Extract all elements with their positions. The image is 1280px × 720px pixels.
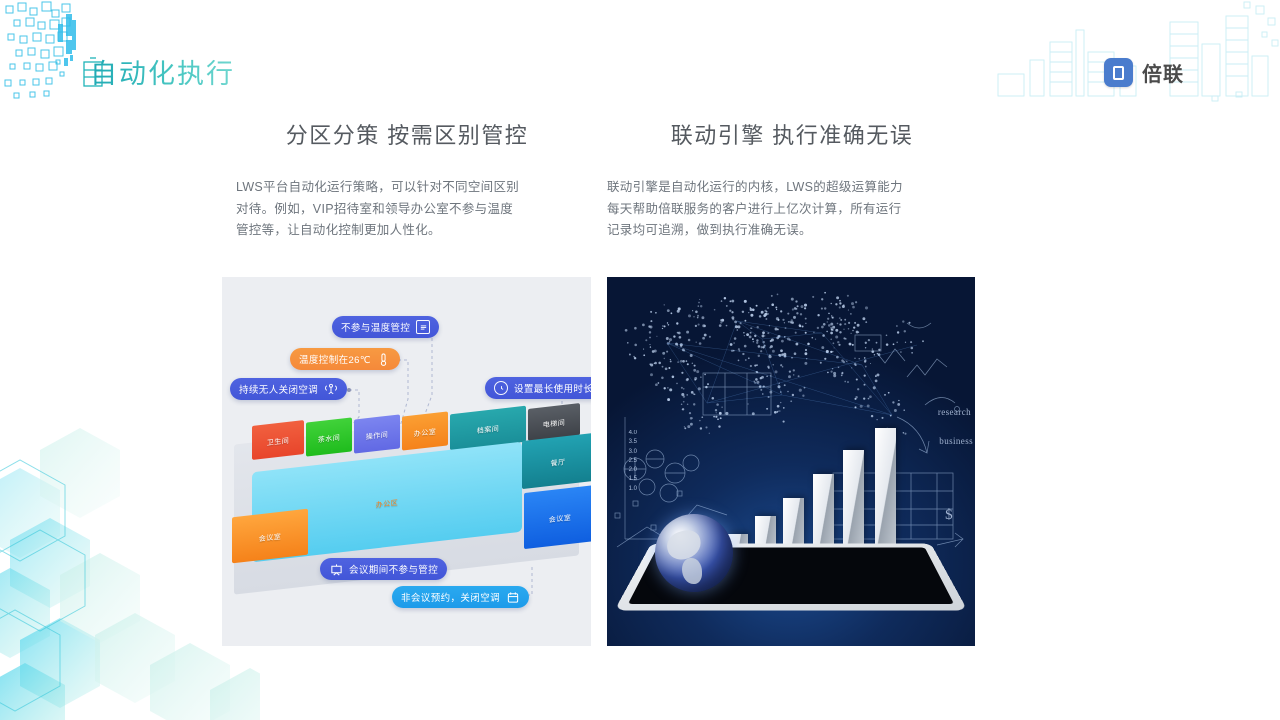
timer-icon — [494, 381, 508, 395]
room-block: 会议室 — [232, 509, 308, 564]
earth-globe — [655, 514, 733, 592]
brand-logo: 倍联 — [1104, 58, 1184, 87]
person-sensor-icon — [324, 382, 338, 396]
column-right: 联动引擎 执行准确无误 联动引擎是自动化运行的内核，LWS的超级运算能力每天帮助… — [607, 118, 977, 242]
calendar-icon — [506, 590, 520, 604]
section-heading-right: 联动引擎 执行准确无误 — [607, 118, 977, 150]
chart-axis-ticks: 4.0 3.5 3.0 2.5 2.0 1.5 1.0 — [623, 429, 637, 494]
callout-label: 持续无人关闭空调 — [239, 382, 318, 396]
callout-tag[interactable]: 不参与温度管控 — [332, 316, 439, 338]
room-block: 会议室 — [524, 485, 591, 549]
hexagon-pattern-decoration — [0, 390, 260, 720]
callout-tag[interactable]: 温度控制在26℃ — [290, 348, 400, 370]
callout-tag[interactable]: 非会议预约，关闭空调 — [392, 586, 529, 608]
page-title: 自动化执行 — [90, 52, 235, 91]
document-list-icon — [416, 320, 430, 334]
room-block: 操作间 — [354, 414, 400, 453]
tech-globe-image-panel: 4.0 3.5 3.0 2.5 2.0 1.5 1.0 research bus… — [607, 277, 975, 646]
section-body-right: 联动引擎是自动化运行的内核，LWS的超级运算能力每天帮助倍联服务的客户进行上亿次… — [607, 177, 907, 242]
column-left: 分区分策 按需区别管控 LWS平台自动化运行策略，可以针对不同空间区别对待。例如… — [222, 118, 592, 242]
room-block: 办公室 — [402, 411, 448, 450]
callout-label: 会议期间不参与管控 — [349, 562, 438, 576]
callout-tag[interactable]: 设置最长使用时长 — [485, 377, 591, 399]
callout-label: 不参与温度管控 — [341, 320, 410, 334]
rounded-square-logo-icon — [1104, 58, 1133, 87]
sketch-label-dollar: $ — [945, 507, 953, 524]
callout-label: 温度控制在26℃ — [299, 352, 371, 366]
section-heading-left: 分区分策 按需区别管控 — [222, 118, 592, 150]
room-block: 餐厅 — [522, 433, 591, 489]
callout-tag[interactable]: 会议期间不参与管控 — [320, 558, 447, 580]
sketch-label-business: business — [939, 436, 973, 446]
floorplan-image-panel: 卫生间 茶水间 操作间 办公室 档案间 电梯间 餐厅 会议室 办公区 会议室 不… — [222, 277, 591, 646]
brand-name: 倍联 — [1142, 58, 1184, 87]
room-block: 卫生间 — [252, 420, 304, 460]
callout-tag[interactable]: 持续无人关闭空调 — [230, 378, 347, 400]
presentation-icon — [329, 562, 343, 576]
callout-label: 非会议预约，关闭空调 — [401, 590, 500, 604]
thermometer-icon — [377, 352, 391, 366]
callout-label: 设置最长使用时长 — [514, 381, 591, 395]
section-body-left: LWS平台自动化运行策略，可以针对不同空间区别对待。例如，VIP招待室和领导办公… — [222, 177, 522, 242]
city-skyline-decoration — [980, 0, 1280, 110]
sketch-label-research: research — [938, 407, 971, 417]
room-block: 茶水间 — [306, 417, 352, 456]
